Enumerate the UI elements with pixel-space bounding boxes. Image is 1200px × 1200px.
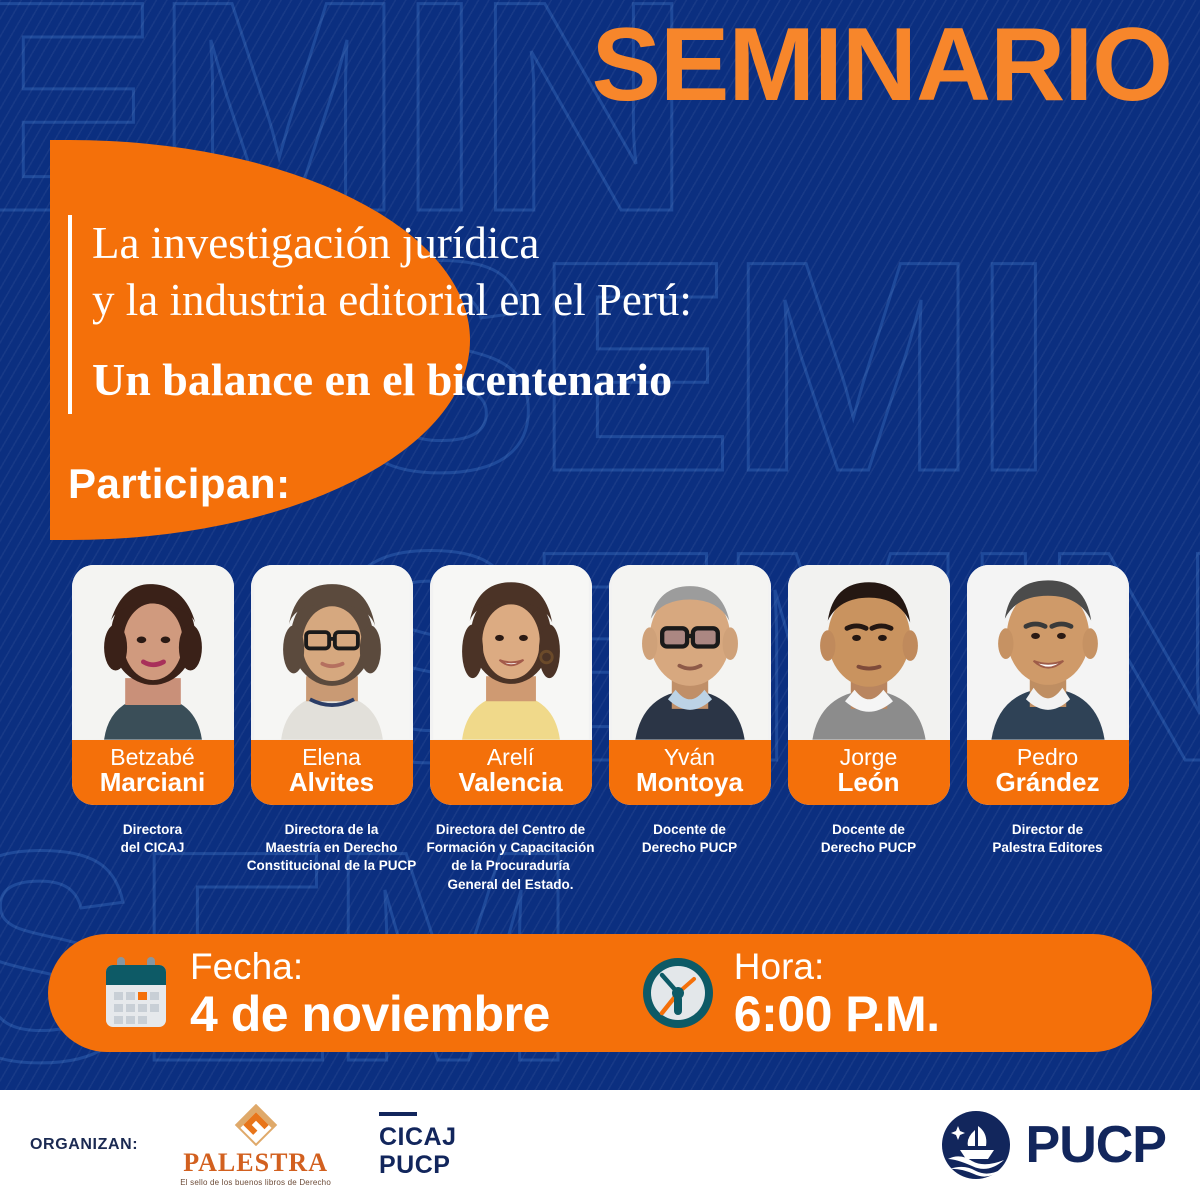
speaker-nameplate: Betzabé Marciani [72,740,234,805]
date-label: Fecha: [190,948,550,985]
title-line-2: y la industria editorial en el Perú: [92,272,692,329]
speaker-photo [967,565,1129,740]
speaker-photo [788,565,950,740]
speaker-role: Director dePalestra Editores [960,821,1136,857]
title-vertical-rule [68,215,72,414]
portrait-illustration [430,565,592,740]
pucp-wordmark: PUCP [1026,1115,1166,1175]
footer-bar: ORGANIZAN: PALESTRA El sello de los buen… [0,1090,1200,1200]
speaker-photo-card: Yván Montoya [609,565,771,805]
speaker-photo [430,565,592,740]
clock-icon [640,955,716,1031]
time-value: 6:00 P.M. [734,989,940,1039]
poster-canvas: EMIN SEMI SEMIN SEM SEMINARIO La investi… [0,0,1200,1200]
cicaj-rule [379,1112,417,1116]
cicaj-logo: CICAJ PUCP [379,1112,457,1179]
speaker-card: Pedro Grández Director dePalestra Editor… [967,565,1129,894]
speaker-last-name: Alvites [253,769,411,796]
speaker-card: Yván Montoya Docente deDerecho PUCP [609,565,771,894]
cicaj-line-2: PUCP [379,1151,457,1179]
speaker-nameplate: Arelí Valencia [430,740,592,805]
speaker-last-name: Valencia [432,769,590,796]
portrait-illustration [788,565,950,740]
speakers-row: Betzabé Marciani Directoradel CICAJ [0,565,1200,894]
speaker-last-name: Marciani [74,769,232,796]
speaker-nameplate: Yván Montoya [609,740,771,805]
speaker-card: Elena Alvites Directora de laMaestría en… [251,565,413,894]
time-group: Hora: 6:00 P.M. [640,948,940,1039]
speaker-photo [609,565,771,740]
time-label: Hora: [734,948,940,985]
speaker-photo-card: Arelí Valencia [430,565,592,805]
portrait-illustration [967,565,1129,740]
calendar-icon [100,955,172,1031]
speaker-card: Arelí Valencia Directora del Centro deFo… [430,565,592,894]
speaker-card: Betzabé Marciani Directoradel CICAJ [72,565,234,894]
speaker-first-name: Betzabé [74,745,232,769]
portrait-illustration [251,565,413,740]
page-title: SEMINARIO [592,8,1172,122]
speaker-photo [72,565,234,740]
speaker-first-name: Arelí [432,745,590,769]
speaker-nameplate: Pedro Grández [967,740,1129,805]
portrait-illustration [609,565,771,740]
pucp-logo: PUCP [940,1109,1166,1181]
date-group: Fecha: 4 de noviembre [100,948,550,1039]
speaker-nameplate: Elena Alvites [251,740,413,805]
speaker-first-name: Pedro [969,745,1127,769]
date-value: 4 de noviembre [190,989,550,1039]
speaker-role: Directora de laMaestría en DerechoConsti… [244,821,420,876]
title-line-3: Un balance en el bicentenario [92,351,692,409]
speaker-last-name: León [790,769,948,796]
speaker-photo-card: Pedro Grández [967,565,1129,805]
cicaj-line-1: CICAJ [379,1123,457,1151]
organizan-label: ORGANIZAN: [30,1136,138,1154]
speaker-role: Directoradel CICAJ [65,821,241,857]
speaker-photo-card: Jorge León [788,565,950,805]
title-line-1: La investigación jurídica [92,215,692,272]
palestra-logo: PALESTRA El sello de los buenos libros d… [180,1104,331,1187]
speaker-photo [251,565,413,740]
portrait-illustration [72,565,234,740]
speaker-last-name: Grández [969,769,1127,796]
speaker-first-name: Jorge [790,745,948,769]
palestra-wordmark: PALESTRA [180,1150,331,1176]
participan-label: Participan: [68,460,291,508]
speaker-last-name: Montoya [611,769,769,796]
speaker-role: Docente deDerecho PUCP [602,821,778,857]
speaker-role: Docente deDerecho PUCP [781,821,957,857]
speaker-card: Jorge León Docente deDerecho PUCP [788,565,950,894]
pucp-ship-icon [940,1109,1012,1181]
speaker-first-name: Yván [611,745,769,769]
date-time-banner: Fecha: 4 de noviembre Hora: 6:00 P.M. [48,934,1152,1052]
title-block: La investigación jurídica y la industria… [68,215,692,414]
palestra-tagline: El sello de los buenos libros de Derecho [180,1179,331,1187]
speaker-photo-card: Betzabé Marciani [72,565,234,805]
speaker-first-name: Elena [253,745,411,769]
palestra-diamond-icon [226,1104,286,1146]
speaker-photo-card: Elena Alvites [251,565,413,805]
speaker-role: Directora del Centro deFormación y Capac… [423,821,599,894]
speaker-nameplate: Jorge León [788,740,950,805]
